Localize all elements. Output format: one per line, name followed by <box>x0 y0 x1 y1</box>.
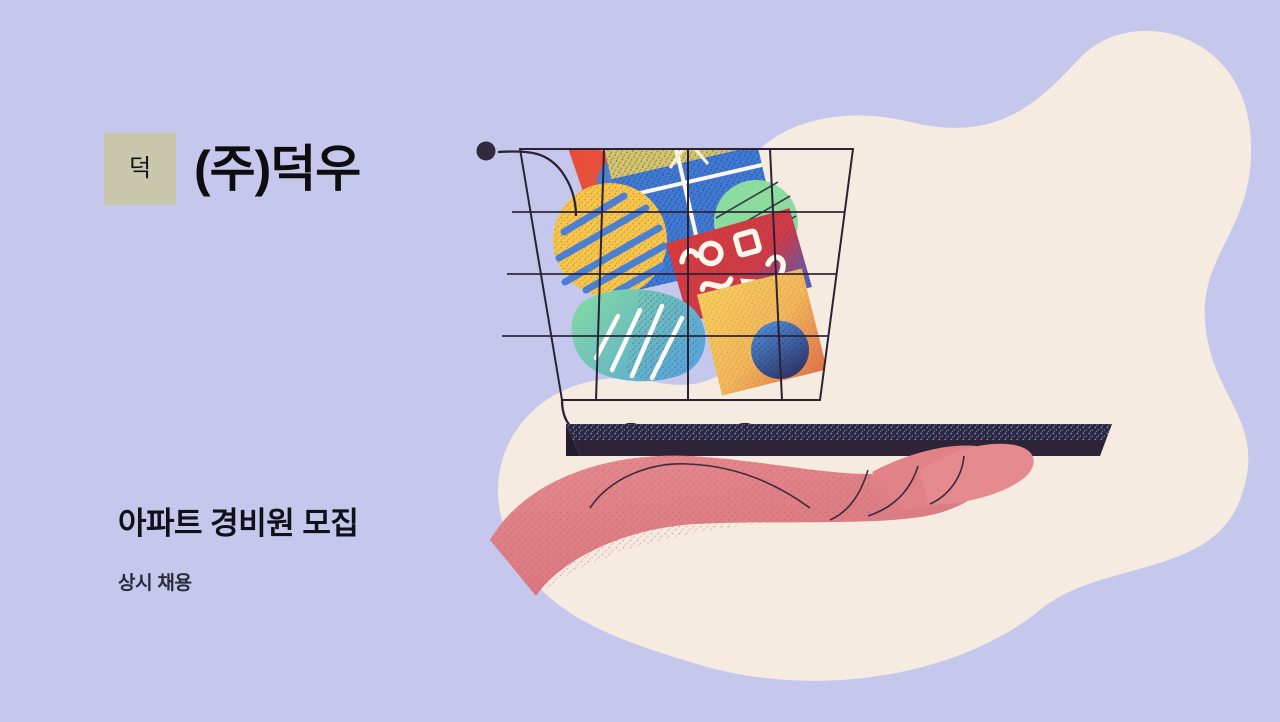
job-subtitle: 상시 채용 <box>118 573 192 596</box>
company-logo-badge: 덕 <box>104 133 176 205</box>
company-name: (주)덕우 <box>194 144 360 194</box>
company-header: 덕 (주)덕우 <box>104 133 360 205</box>
shelf <box>566 424 1112 456</box>
illustration-shopping-cart <box>440 0 1280 722</box>
job-title: 아파트 경비원 모집 <box>118 505 358 542</box>
cart-item-yellow-striped-ball <box>553 183 667 297</box>
job-posting-card: 덕 (주)덕우 아파트 경비원 모집 상시 채용 <box>0 0 1280 722</box>
cart-handle-knob <box>477 142 496 161</box>
